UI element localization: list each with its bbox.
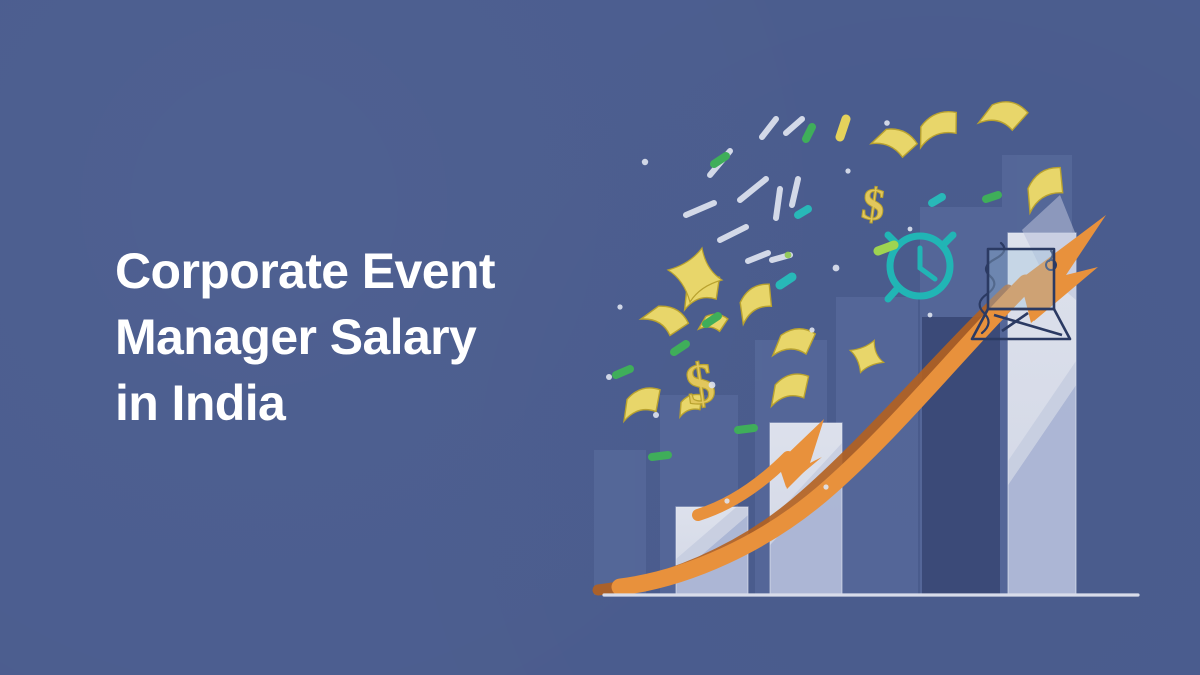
- salary-growth-illustration: $ $: [590, 85, 1160, 615]
- confetti-burst-white: [686, 119, 802, 261]
- svg-text:$: $: [859, 177, 889, 231]
- page-title-line-3: in India: [115, 370, 585, 436]
- poster-canvas: Corporate Event Manager Salary in India: [0, 0, 1200, 675]
- dollar-sign-icon-small: $: [859, 177, 889, 231]
- page-title: Corporate Event Manager Salary in India: [115, 238, 585, 436]
- page-title-line-2: Manager Salary: [115, 304, 585, 370]
- page-title-line-1: Corporate Event: [115, 238, 585, 304]
- ghost-column-1: [594, 450, 646, 595]
